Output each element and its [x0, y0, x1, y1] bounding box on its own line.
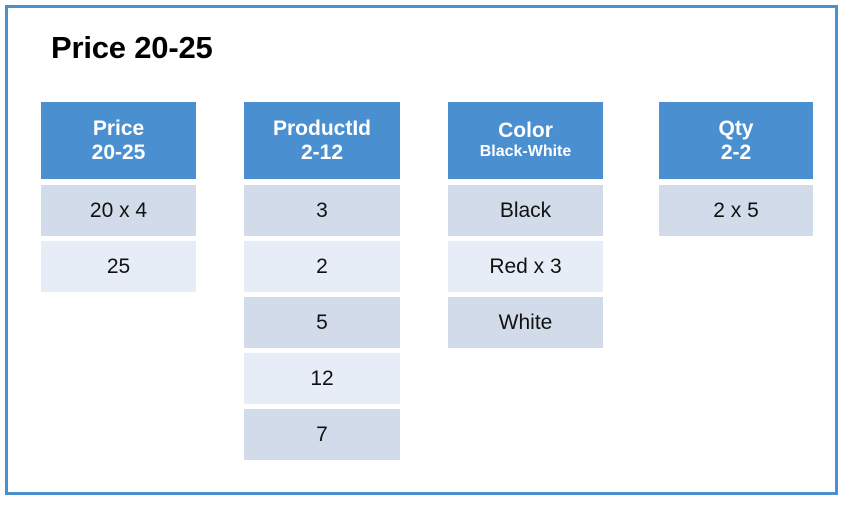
list-item[interactable]: Red x 3: [448, 241, 603, 292]
column-header-product-id[interactable]: ProductId2-12: [244, 102, 400, 179]
list-item[interactable]: White: [448, 297, 603, 348]
column-cells-price: 20 x 425: [41, 185, 196, 292]
column-header-price[interactable]: Price20-25: [41, 102, 196, 179]
column-color: ColorBlack-WhiteBlackRed x 3White: [448, 102, 603, 353]
column-cells-product-id: 325127: [244, 185, 400, 460]
list-item[interactable]: 2 x 5: [659, 185, 813, 236]
list-item[interactable]: 7: [244, 409, 400, 460]
column-product-id: ProductId2-12325127: [244, 102, 400, 465]
list-item[interactable]: 3: [244, 185, 400, 236]
list-item[interactable]: 20 x 4: [41, 185, 196, 236]
list-item[interactable]: Black: [448, 185, 603, 236]
list-item[interactable]: 5: [244, 297, 400, 348]
column-header-qty[interactable]: Qty2-2: [659, 102, 813, 179]
column-group: Price20-2520 x 425ProductId2-12325127Col…: [8, 8, 835, 492]
column-header-title: Color: [498, 119, 553, 143]
column-header-title: Qty: [718, 117, 753, 141]
list-item[interactable]: 12: [244, 353, 400, 404]
slide-canvas: Price 20-25 Price20-2520 x 425ProductId2…: [5, 5, 838, 495]
column-header-subtitle: 2-12: [301, 141, 343, 165]
column-header-subtitle: Black-White: [480, 143, 572, 161]
list-item[interactable]: 25: [41, 241, 196, 292]
column-cells-color: BlackRed x 3White: [448, 185, 603, 348]
column-cells-qty: 2 x 5: [659, 185, 813, 236]
column-header-title: Price: [93, 117, 144, 141]
column-header-subtitle: 20-25: [92, 141, 146, 165]
list-item[interactable]: 2: [244, 241, 400, 292]
column-header-color[interactable]: ColorBlack-White: [448, 102, 603, 179]
column-header-title: ProductId: [273, 117, 371, 141]
column-header-subtitle: 2-2: [721, 141, 751, 165]
column-price: Price20-2520 x 425: [41, 102, 196, 297]
column-qty: Qty2-22 x 5: [659, 102, 813, 241]
